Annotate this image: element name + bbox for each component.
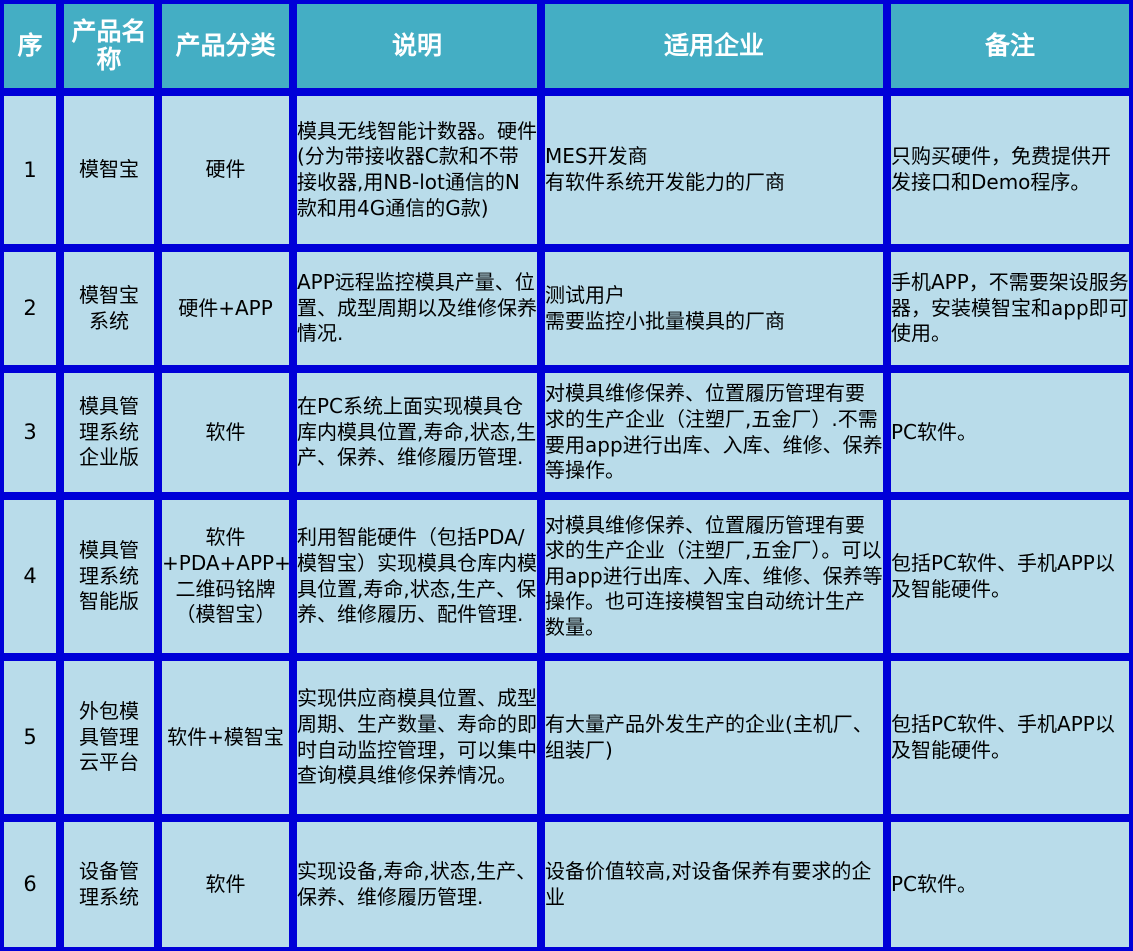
column-header-description: 说明 (293, 0, 541, 92)
cell-remark-text: PC软件。 (891, 872, 1129, 898)
cell-product-category: 软件 (158, 818, 293, 951)
cell-product-name: 外包模 具管理 云平台 (60, 657, 158, 818)
cell-product-category: 软件 +PDA+APP+ 二维码铭牌 （模智宝） (158, 496, 293, 657)
cell-description-text: 实现供应商模具位置、成型周期、生产数量、寿命的即时自动监控管理，可以集中查询模具… (297, 686, 537, 788)
table-header-row: 序 产品名 称 产品分类 说明 适用企业 备注 (0, 0, 1133, 92)
cell-index-text: 2 (4, 295, 56, 322)
cell-remark-text: 包括PC软件、手机APP以及智能硬件。 (891, 551, 1129, 602)
cell-target-enterprise-text: 设备价值较高,对设备保养有要求的企业 (545, 859, 883, 910)
cell-product-category: 硬件+APP (158, 248, 293, 369)
column-header-category: 产品分类 (158, 0, 293, 92)
cell-description: 实现设备,寿命,状态,生产、保养、维修履历管理. (293, 818, 541, 951)
cell-product-category-text: 软件+模智宝 (162, 725, 289, 751)
cell-remark: 包括PC软件、手机APP以及智能硬件。 (887, 496, 1133, 657)
cell-product-category: 软件 (158, 369, 293, 496)
cell-description-text: 实现设备,寿命,状态,生产、保养、维修履历管理. (297, 859, 537, 910)
cell-product-category-text: 软件 (162, 872, 289, 898)
cell-index: 4 (0, 496, 60, 657)
cell-product-category: 硬件 (158, 92, 293, 248)
table-row: 5 外包模 具管理 云平台 软件+模智宝 实现供应商模具位置、成型周期、生产数量… (0, 657, 1133, 818)
cell-product-name: 模智宝 系统 (60, 248, 158, 369)
cell-product-name-text: 模智宝 (64, 157, 154, 183)
cell-product-name: 模智宝 (60, 92, 158, 248)
cell-target-enterprise: 对模具维修保养、位置履历管理有要求的生产企业（注塑厂,五金厂）.不需要用app进… (541, 369, 887, 496)
cell-product-name-text: 设备管 理系统 (64, 859, 154, 910)
cell-description-text: APP远程监控模具产量、位置、成型周期以及维修保养情况. (297, 270, 537, 347)
table-body: 1 模智宝 硬件 模具无线智能计数器。硬件(分为带接收器C款和不带接收器,用NB… (0, 92, 1133, 951)
cell-description: 模具无线智能计数器。硬件(分为带接收器C款和不带接收器,用NB-lot通信的N款… (293, 92, 541, 248)
cell-product-name: 设备管 理系统 (60, 818, 158, 951)
cell-target-enterprise-text: 对模具维修保养、位置履历管理有要求的生产企业（注塑厂,五金厂）。可以用app进行… (545, 513, 883, 641)
cell-index: 3 (0, 369, 60, 496)
product-comparison-table: 序 产品名 称 产品分类 说明 适用企业 备注 1 模智宝 硬件 模具无线智能计… (0, 0, 1133, 951)
cell-index-text: 5 (4, 724, 56, 751)
column-header-target-label: 适用企业 (545, 32, 883, 60)
column-header-category-label: 产品分类 (162, 32, 289, 60)
cell-index: 1 (0, 92, 60, 248)
cell-target-enterprise-text: MES开发商 有软件系统开发能力的厂商 (545, 144, 883, 195)
table-row: 3 模具管 理系统 企业版 软件 在PC系统上面实现模具仓库内模具位置,寿命,状… (0, 369, 1133, 496)
cell-index: 6 (0, 818, 60, 951)
column-header-index: 序 (0, 0, 60, 92)
cell-index: 5 (0, 657, 60, 818)
cell-target-enterprise: MES开发商 有软件系统开发能力的厂商 (541, 92, 887, 248)
cell-product-category-text: 硬件+APP (162, 296, 289, 322)
cell-description: 利用智能硬件（包括PDA/模智宝）实现模具仓库内模具位置,寿命,状态,生产、保养… (293, 496, 541, 657)
cell-product-category: 软件+模智宝 (158, 657, 293, 818)
cell-remark-text: 包括PC软件、手机APP以及智能硬件。 (891, 712, 1129, 763)
cell-description-text: 在PC系统上面实现模具仓库内模具位置,寿命,状态,生产、保养、维修履历管理. (297, 394, 537, 471)
cell-target-enterprise-text: 对模具维修保养、位置履历管理有要求的生产企业（注塑厂,五金厂）.不需要用app进… (545, 381, 883, 483)
cell-product-name: 模具管 理系统 企业版 (60, 369, 158, 496)
cell-product-category-text: 硬件 (162, 157, 289, 183)
cell-remark: 只购买硬件，免费提供开发接口和Demo程序。 (887, 92, 1133, 248)
column-header-target: 适用企业 (541, 0, 887, 92)
cell-product-name-text: 模智宝 系统 (64, 283, 154, 334)
cell-remark: PC软件。 (887, 818, 1133, 951)
cell-index-text: 1 (4, 157, 56, 184)
cell-description-text: 模具无线智能计数器。硬件(分为带接收器C款和不带接收器,用NB-lot通信的N款… (297, 119, 537, 221)
cell-index-text: 3 (4, 419, 56, 446)
cell-index-text: 6 (4, 871, 56, 898)
cell-target-enterprise-text: 测试用户 需要监控小批量模具的厂商 (545, 283, 883, 334)
table-row: 2 模智宝 系统 硬件+APP APP远程监控模具产量、位置、成型周期以及维修保… (0, 248, 1133, 369)
cell-product-name: 模具管 理系统 智能版 (60, 496, 158, 657)
cell-product-name-text: 模具管 理系统 企业版 (64, 394, 154, 471)
cell-index: 2 (0, 248, 60, 369)
cell-target-enterprise-text: 有大量产品外发生产的企业(主机厂、组装厂) (545, 712, 883, 763)
cell-remark-text: PC软件。 (891, 420, 1129, 446)
table-row: 6 设备管 理系统 软件 实现设备,寿命,状态,生产、保养、维修履历管理. 设备… (0, 818, 1133, 951)
cell-target-enterprise: 设备价值较高,对设备保养有要求的企业 (541, 818, 887, 951)
cell-description: 实现供应商模具位置、成型周期、生产数量、寿命的即时自动监控管理，可以集中查询模具… (293, 657, 541, 818)
table-row: 1 模智宝 硬件 模具无线智能计数器。硬件(分为带接收器C款和不带接收器,用NB… (0, 92, 1133, 248)
cell-remark: 包括PC软件、手机APP以及智能硬件。 (887, 657, 1133, 818)
cell-product-name-text: 外包模 具管理 云平台 (64, 699, 154, 776)
cell-index-text: 4 (4, 563, 56, 590)
cell-remark: PC软件。 (887, 369, 1133, 496)
cell-target-enterprise: 有大量产品外发生产的企业(主机厂、组装厂) (541, 657, 887, 818)
cell-description: APP远程监控模具产量、位置、成型周期以及维修保养情况. (293, 248, 541, 369)
column-header-name: 产品名 称 (60, 0, 158, 92)
column-header-index-label: 序 (4, 32, 56, 60)
table-row: 4 模具管 理系统 智能版 软件 +PDA+APP+ 二维码铭牌 （模智宝） 利… (0, 496, 1133, 657)
cell-description: 在PC系统上面实现模具仓库内模具位置,寿命,状态,生产、保养、维修履历管理. (293, 369, 541, 496)
cell-description-text: 利用智能硬件（包括PDA/模智宝）实现模具仓库内模具位置,寿命,状态,生产、保养… (297, 525, 537, 627)
cell-remark-text: 只购买硬件，免费提供开发接口和Demo程序。 (891, 144, 1129, 195)
table-header: 序 产品名 称 产品分类 说明 适用企业 备注 (0, 0, 1133, 92)
cell-product-category-text: 软件 +PDA+APP+ 二维码铭牌 （模智宝） (162, 525, 289, 627)
column-header-name-label: 产品名 称 (64, 18, 154, 74)
cell-remark: 手机APP，不需要架设服务器，安装模智宝和app即可使用。 (887, 248, 1133, 369)
cell-target-enterprise: 对模具维修保养、位置履历管理有要求的生产企业（注塑厂,五金厂）。可以用app进行… (541, 496, 887, 657)
cell-remark-text: 手机APP，不需要架设服务器，安装模智宝和app即可使用。 (891, 270, 1129, 347)
cell-target-enterprise: 测试用户 需要监控小批量模具的厂商 (541, 248, 887, 369)
column-header-remark-label: 备注 (891, 32, 1129, 60)
column-header-description-label: 说明 (297, 32, 537, 60)
column-header-remark: 备注 (887, 0, 1133, 92)
cell-product-category-text: 软件 (162, 420, 289, 446)
cell-product-name-text: 模具管 理系统 智能版 (64, 538, 154, 615)
